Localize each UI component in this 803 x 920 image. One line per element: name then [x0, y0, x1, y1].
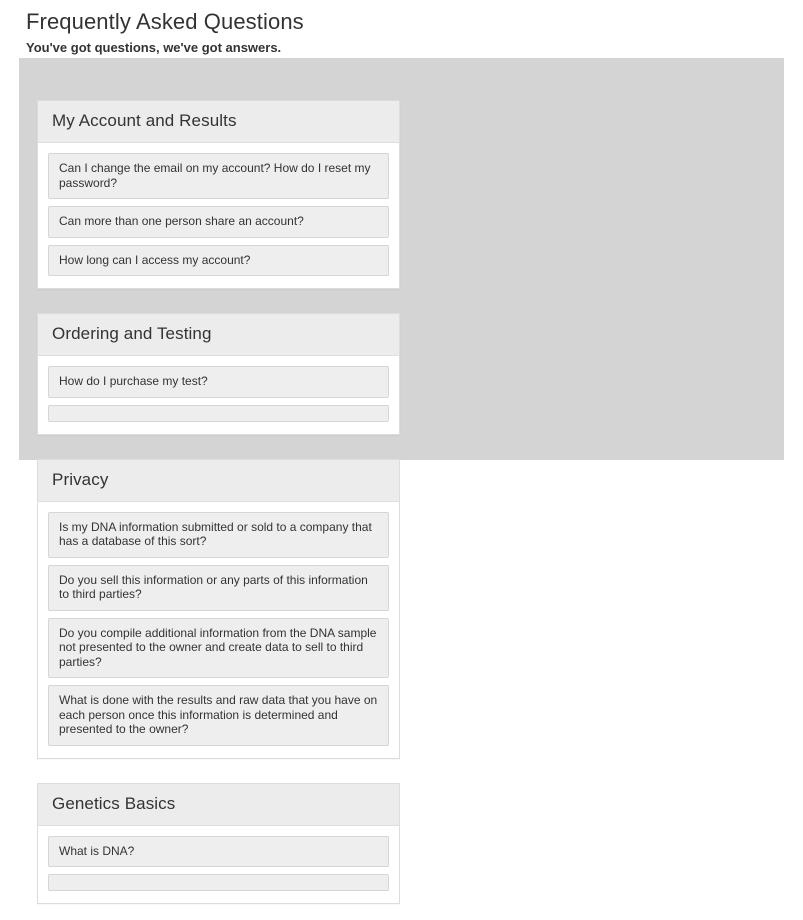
- faq-column-right: Privacy Is my DNA information submitted …: [37, 459, 400, 920]
- faq-card-header: Genetics Basics: [38, 784, 399, 826]
- faq-question[interactable]: What is DNA?: [48, 836, 389, 868]
- faq-question[interactable]: [48, 874, 389, 891]
- faq-question[interactable]: Do you compile additional information fr…: [48, 618, 389, 679]
- faq-question[interactable]: Can more than one person share an accoun…: [48, 206, 389, 238]
- faq-card-body: Can I change the email on my account? Ho…: [38, 143, 399, 288]
- faq-card-my-account-and-results: My Account and Results Can I change the …: [37, 100, 400, 289]
- faq-card-body: What is DNA?: [38, 826, 399, 904]
- faq-question[interactable]: What is done with the results and raw da…: [48, 685, 389, 746]
- faq-card-header: Ordering and Testing: [38, 314, 399, 356]
- faq-question[interactable]: How do I purchase my test?: [48, 366, 389, 398]
- faq-grid: My Account and Results Can I change the …: [19, 58, 784, 920]
- faq-card-header: Privacy: [38, 460, 399, 502]
- faq-question[interactable]: How long can I access my account?: [48, 245, 389, 277]
- faq-card-title: Genetics Basics: [52, 793, 385, 815]
- faq-container: My Account and Results Can I change the …: [19, 58, 784, 460]
- page-subtitle: You've got questions, we've got answers.: [26, 39, 803, 57]
- faq-card-ordering-and-testing: Ordering and Testing How do I purchase m…: [37, 313, 400, 435]
- faq-question[interactable]: Do you sell this information or any part…: [48, 565, 389, 611]
- faq-column-left: My Account and Results Can I change the …: [37, 100, 400, 459]
- faq-card-privacy: Privacy Is my DNA information submitted …: [37, 459, 400, 759]
- faq-card-genetics-basics: Genetics Basics What is DNA?: [37, 783, 400, 905]
- faq-question[interactable]: Is my DNA information submitted or sold …: [48, 512, 389, 558]
- page-header: Frequently Asked Questions You've got qu…: [0, 0, 803, 57]
- faq-card-header: My Account and Results: [38, 101, 399, 143]
- faq-question[interactable]: Can I change the email on my account? Ho…: [48, 153, 389, 199]
- faq-card-title: Privacy: [52, 469, 385, 491]
- faq-card-body: Is my DNA information submitted or sold …: [38, 502, 399, 758]
- faq-card-body: How do I purchase my test?: [38, 356, 399, 434]
- page-title: Frequently Asked Questions: [26, 8, 803, 36]
- faq-question[interactable]: [48, 405, 389, 422]
- faq-card-title: Ordering and Testing: [52, 323, 385, 345]
- faq-card-title: My Account and Results: [52, 110, 385, 132]
